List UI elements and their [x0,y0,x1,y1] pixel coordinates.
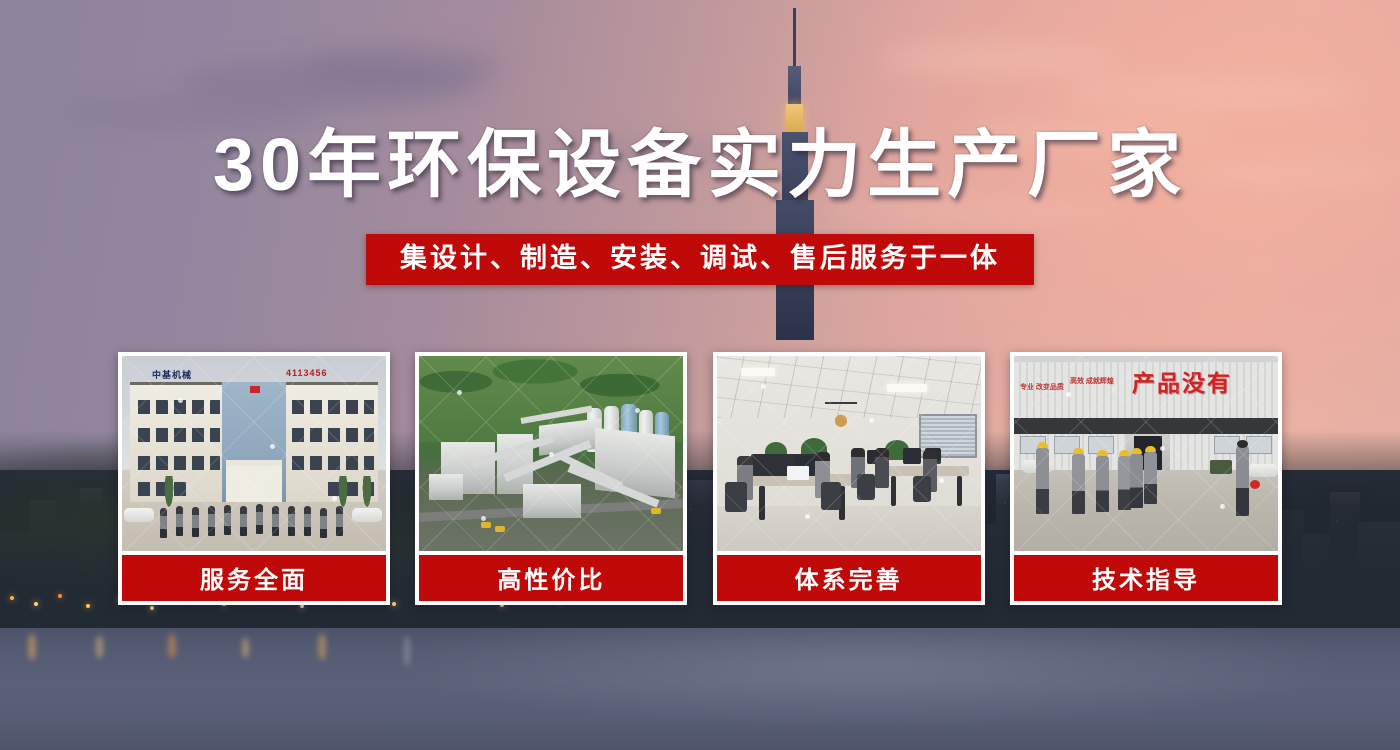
factory-wall-text: 产品没有 [1132,364,1232,398]
card-caption: 技术指导 [1014,555,1278,601]
page-title: 30年环保设备实力生产厂家 [0,128,1400,202]
building-phone-text: 4113456 [286,368,328,378]
feature-card-training[interactable]: 产品没有 专业 改变品质 高效 成就辉煌 [1010,352,1282,605]
card-caption: 服务全面 [122,555,386,601]
company-headquarters-photo: 中基机械 4113456 [122,356,386,551]
promo-banner: 30年环保设备实力生产厂家 集设计、制造、安装、调试、售后服务于一体 中基机械 … [0,0,1400,750]
feature-card-service[interactable]: 中基机械 4113456 [118,352,390,605]
factory-slogan-2: 高效 成就辉煌 [1070,378,1114,387]
office-interior-photo [717,356,981,551]
feature-card-system[interactable]: 体系完善 [713,352,985,605]
building-signage-text: 中基机械 [152,368,192,381]
production-plant-aerial-photo [419,356,683,551]
feature-card-list: 中基机械 4113456 [118,352,1282,605]
workshop-training-photo: 产品没有 专业 改变品质 高效 成就辉煌 [1014,356,1278,551]
wall-decal-icon [825,402,857,428]
card-caption: 体系完善 [717,555,981,601]
feature-card-value[interactable]: 高性价比 [415,352,687,605]
water-reflection-sheen [0,628,1400,750]
subtitle-banner: 集设计、制造、安装、调试、售后服务于一体 [366,234,1034,285]
factory-slogan-1: 专业 改变品质 [1020,384,1064,393]
card-caption: 高性价比 [419,555,683,601]
